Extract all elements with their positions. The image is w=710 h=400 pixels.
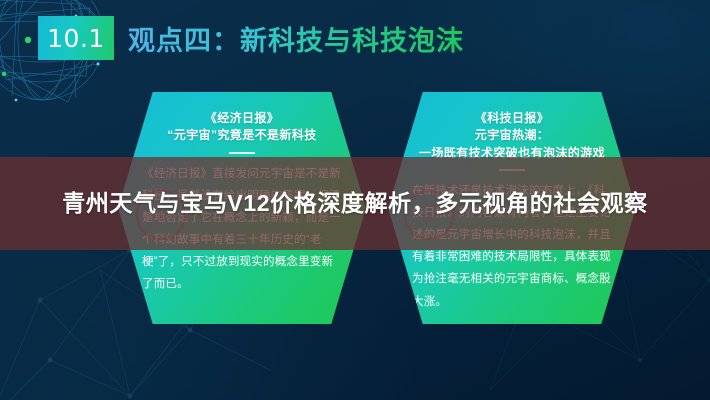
card-source: 《经济日报》 — [140, 110, 344, 127]
card-subtitle: “元宇宙”究竟是不是新科技 — [140, 127, 344, 144]
card-subtitle-line1: 元宇宙热潮： — [410, 127, 614, 144]
section-number-badge: 10.1 — [38, 16, 114, 60]
slide-canvas: 10.1 观点四：新科技与科技泡沫 ★ 《经济日报》 “元宇宙”究竟是不是新科技… — [0, 0, 710, 400]
card-source: 《科技日报》 — [410, 110, 614, 127]
page-title: 观点四：新科技与科技泡沫 — [128, 19, 464, 58]
overlay-title-container: 青州天气与宝马V12价格深度解析，多元视角的社会观察 — [0, 157, 710, 250]
overlay-title: 青州天气与宝马V12价格深度解析，多元视角的社会观察 — [62, 187, 648, 220]
slide-header: 10.1 观点四：新科技与科技泡沫 — [38, 16, 464, 60]
divider — [229, 152, 255, 154]
